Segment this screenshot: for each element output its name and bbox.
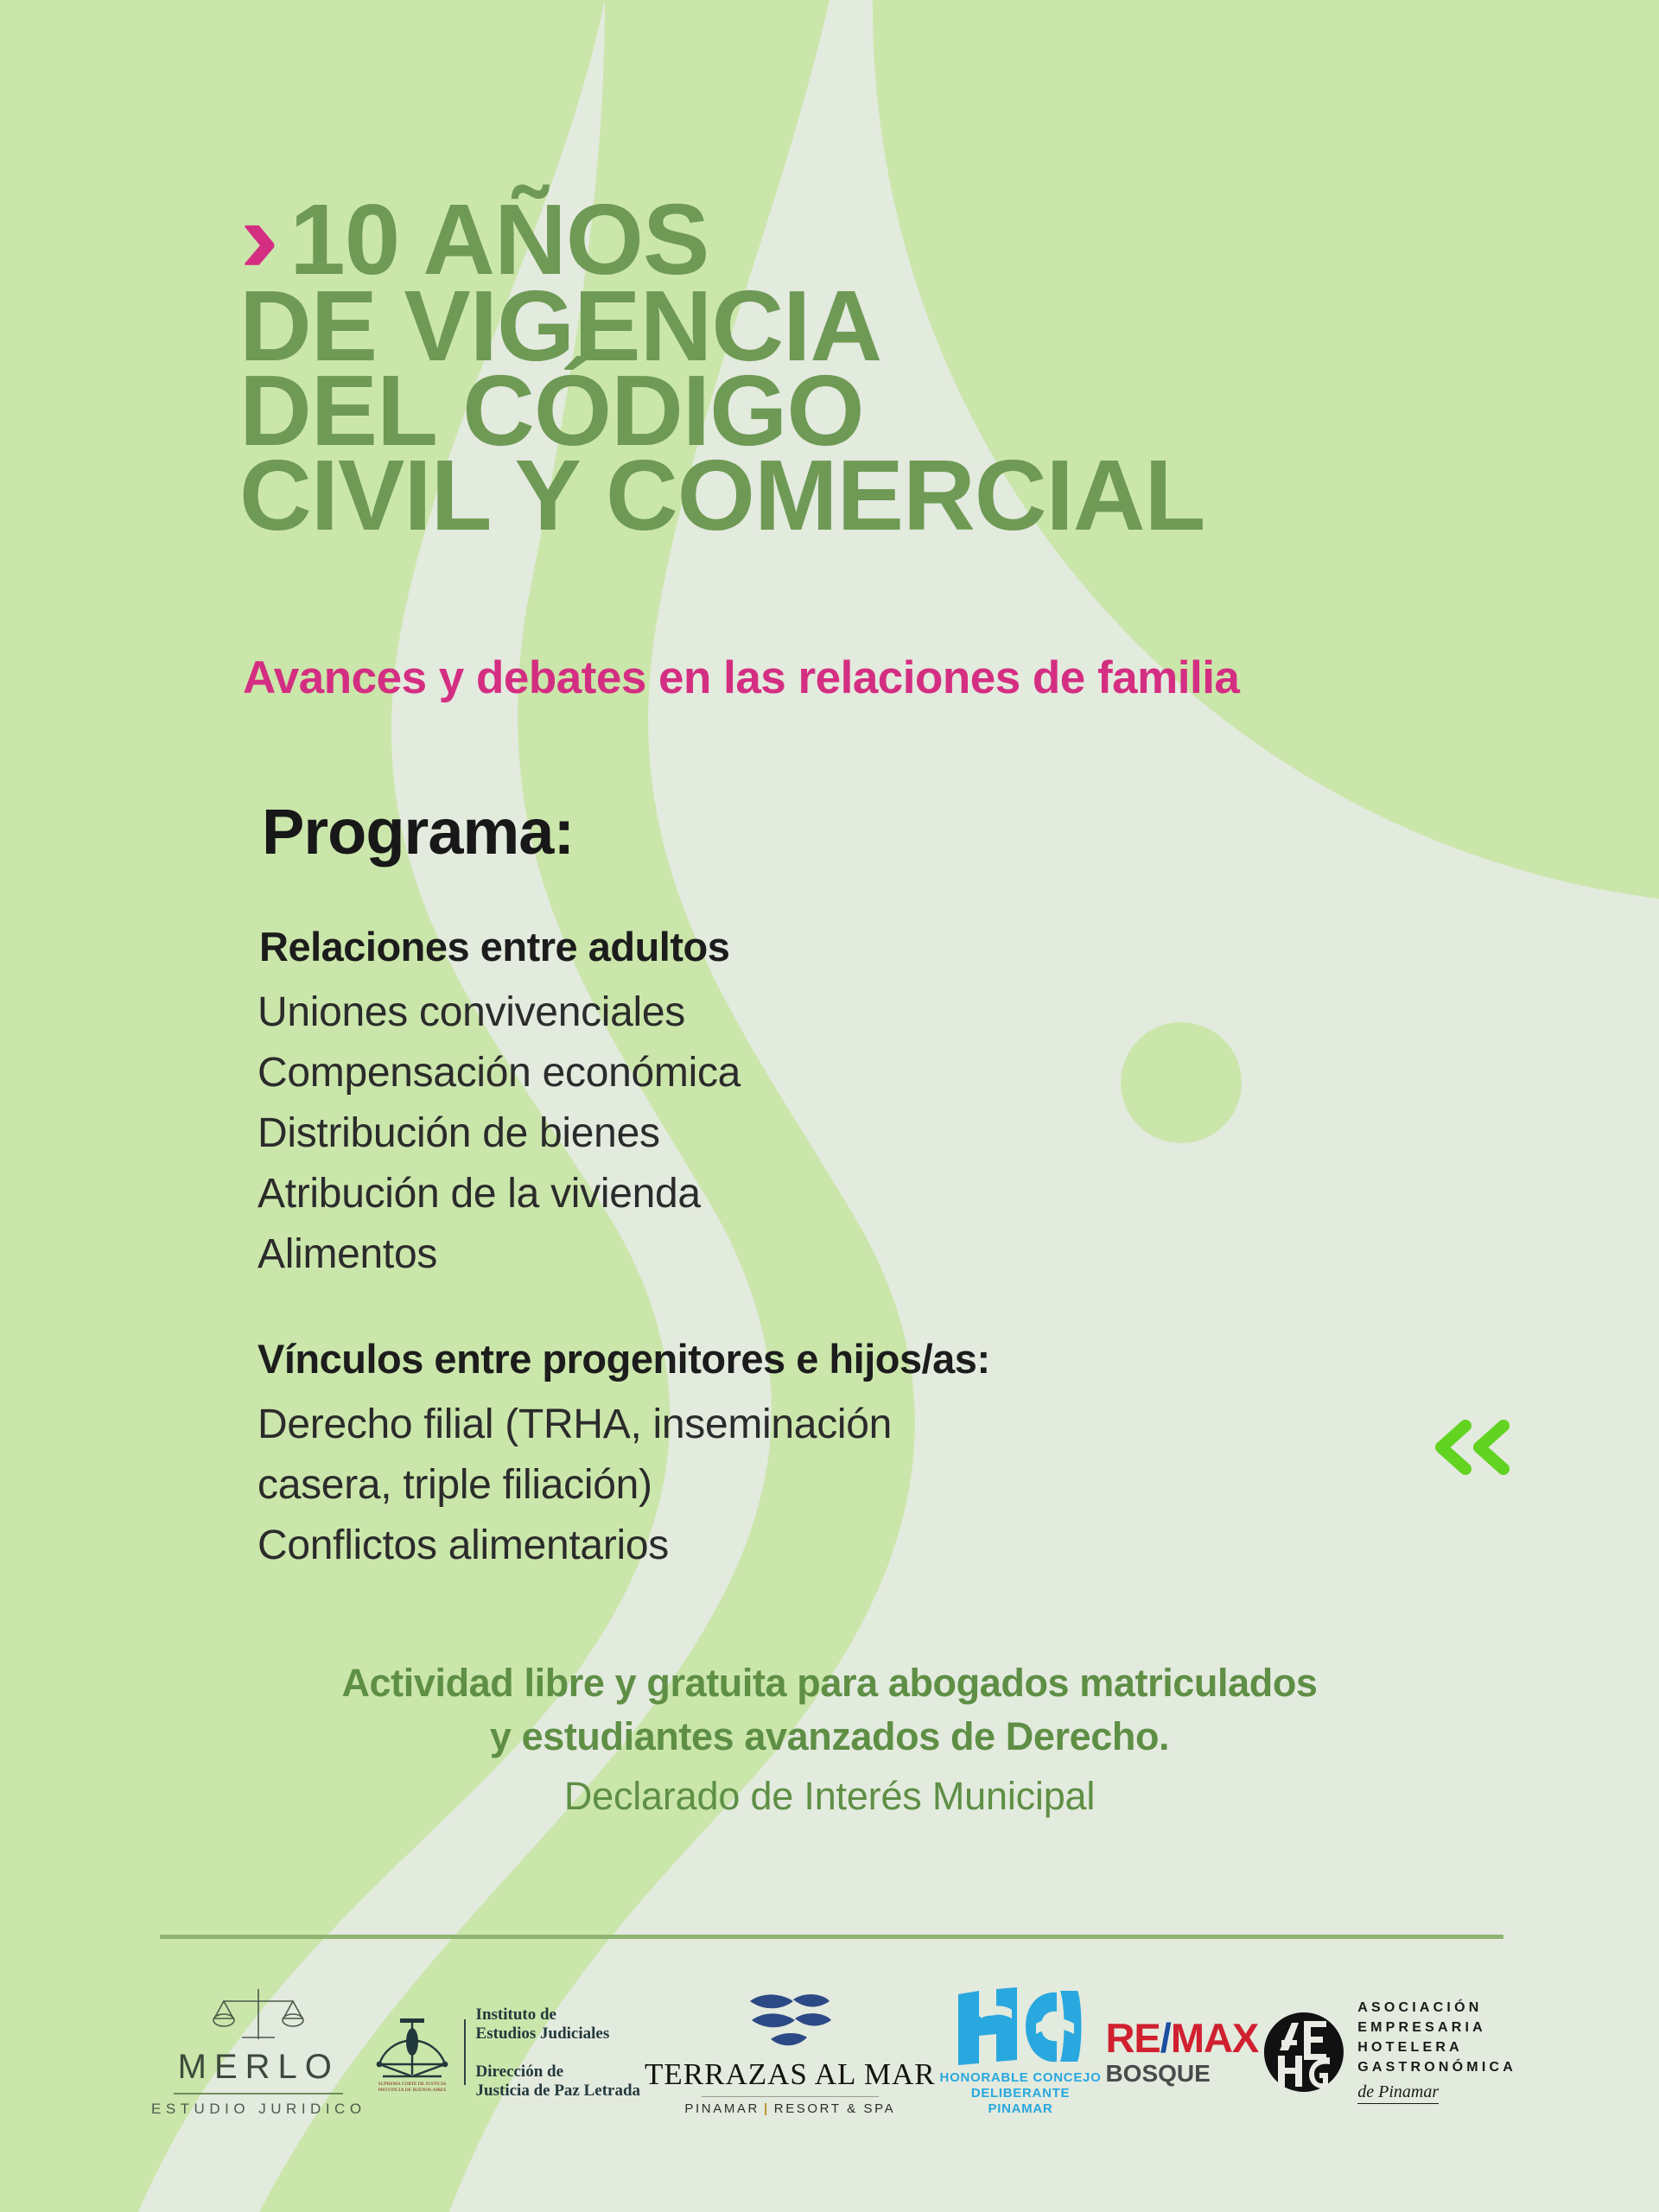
- logo-terrazas-al-mar: TERRAZAS AL MAR PINAMAR | RESORT & SPA: [645, 1989, 936, 2116]
- hcd-sub-3: PINAMAR: [940, 2101, 1102, 2117]
- aehg-line-3: HOTELERA: [1357, 2040, 1516, 2055]
- merlo-rule: [174, 2093, 343, 2094]
- logo-aehg-pinamar: ASOCIACIÓN EMPRESARIA HOTELERA GASTRONÓM…: [1262, 2000, 1516, 2104]
- program-item: casera, triple filiación): [257, 1455, 1382, 1516]
- svg-text:PROVINCIA DE BUENOS AIRES: PROVINCIA DE BUENOS AIRES: [378, 2088, 446, 2093]
- waves-icon: [745, 1989, 835, 2051]
- svg-text:SUPREMA CORTE DE JUSTICIA: SUPREMA CORTE DE JUSTICIA: [378, 2082, 446, 2087]
- programa-group-vinculos: Vínculos entre progenitores e hijos/as: …: [259, 1335, 1382, 1576]
- iej-line-1: Instituto de: [476, 2005, 641, 2024]
- group-heading: Vínculos entre progenitores e hijos/as:: [257, 1335, 1382, 1382]
- program-item: Conflictos alimentarios: [257, 1516, 1382, 1576]
- terrazas-wordmark: TERRAZAS AL MAR: [645, 2057, 936, 2092]
- headline-line-4: CIVIL Y COMERCIAL: [239, 453, 1535, 537]
- programa-group-adultos: Relaciones entre adultos Uniones convive…: [259, 923, 1382, 1285]
- poster-subtitle: Avances y debates en las relaciones de f…: [243, 652, 1239, 704]
- remax-part-2: MAX: [1171, 2015, 1258, 2061]
- hcd-monogram-icon: [957, 1987, 1084, 2065]
- poster-content: ›10 AÑOS DE VIGENCIA DEL CÓDIGO CIVIL Y …: [0, 0, 1659, 2212]
- supreme-court-emblem-icon: SUPREMA CORTE DE JUSTICIA PROVINCIA DE B…: [371, 2011, 454, 2094]
- program-item: Compensación económica: [257, 1043, 1382, 1103]
- program-item: Alimentos: [257, 1224, 1382, 1285]
- logo-hcd-pinamar: HONORABLE CONCEJO DELIBERANTE PINAMAR: [940, 1987, 1102, 2117]
- logo-instituto-estudios-judiciales: SUPREMA CORTE DE JUSTICIA PROVINCIA DE B…: [371, 2005, 641, 2100]
- program-item: Atribución de la vivienda: [257, 1164, 1382, 1224]
- remax-wordmark: RE/MAX: [1105, 2018, 1258, 2059]
- scales-of-justice-icon: [211, 1987, 306, 2043]
- remax-subtitle: BOSQUE: [1105, 2061, 1210, 2087]
- hcd-sub-1: HONORABLE CONCEJO: [940, 2070, 1102, 2086]
- closing-line-1: Actividad libre y gratuita para abogados…: [0, 1656, 1659, 1710]
- closing-line-2: y estudiantes avanzados de Derecho.: [0, 1710, 1659, 1764]
- program-item: Distribución de bienes: [257, 1103, 1382, 1164]
- logo-merlo: MERLO ESTUDIO JURIDICO: [151, 1987, 366, 2118]
- terrazas-sub-divider: |: [764, 2101, 770, 2116]
- iej-line-4: Justicia de Paz Letrada: [476, 2082, 641, 2100]
- aehg-script: de Pinamar: [1357, 2082, 1439, 2104]
- chevron-left-icon: [1427, 1417, 1514, 1478]
- remax-part-1: RE: [1105, 2015, 1160, 2061]
- aehg-line-2: EMPRESARIA: [1357, 2020, 1516, 2035]
- iej-line-2: Estudios Judiciales: [476, 2024, 641, 2043]
- terrazas-sub-right: RESORT & SPA: [774, 2101, 895, 2116]
- logo-remax-bosque: RE/MAX BOSQUE: [1105, 2018, 1258, 2087]
- iej-divider: [464, 2019, 466, 2085]
- chevron-right-icon: ›: [239, 194, 278, 283]
- hcd-sub-2: DELIBERANTE: [940, 2086, 1102, 2101]
- headline-block: ›10 AÑOS DE VIGENCIA DEL CÓDIGO CIVIL Y …: [239, 197, 1535, 537]
- sponsor-logos-row: MERLO ESTUDIO JURIDICO: [151, 1966, 1516, 2139]
- merlo-subtitle: ESTUDIO JURIDICO: [151, 2101, 366, 2118]
- programa-title: Programa:: [262, 795, 574, 868]
- merlo-wordmark: MERLO: [178, 2048, 340, 2087]
- group-heading: Relaciones entre adultos: [259, 923, 1382, 970]
- program-item: Uniones convivenciales: [257, 982, 1382, 1043]
- iej-line-3: Dirección de: [476, 2063, 641, 2081]
- aehg-line-4: GASTRONÓMICA: [1357, 2060, 1516, 2075]
- aehg-monogram-icon: [1262, 2011, 1345, 2094]
- terrazas-rule: [702, 2096, 879, 2097]
- program-item: Derecho filial (TRHA, inseminación: [257, 1395, 1382, 1455]
- closing-line-3: Declarado de Interés Municipal: [0, 1767, 1659, 1826]
- closing-note: Actividad libre y gratuita para abogados…: [0, 1656, 1659, 1826]
- aehg-line-1: ASOCIACIÓN: [1357, 2000, 1516, 2015]
- terrazas-sub-left: PINAMAR: [684, 2101, 760, 2116]
- footer-divider: [160, 1935, 1503, 1939]
- remax-slash-icon: /: [1160, 2015, 1171, 2061]
